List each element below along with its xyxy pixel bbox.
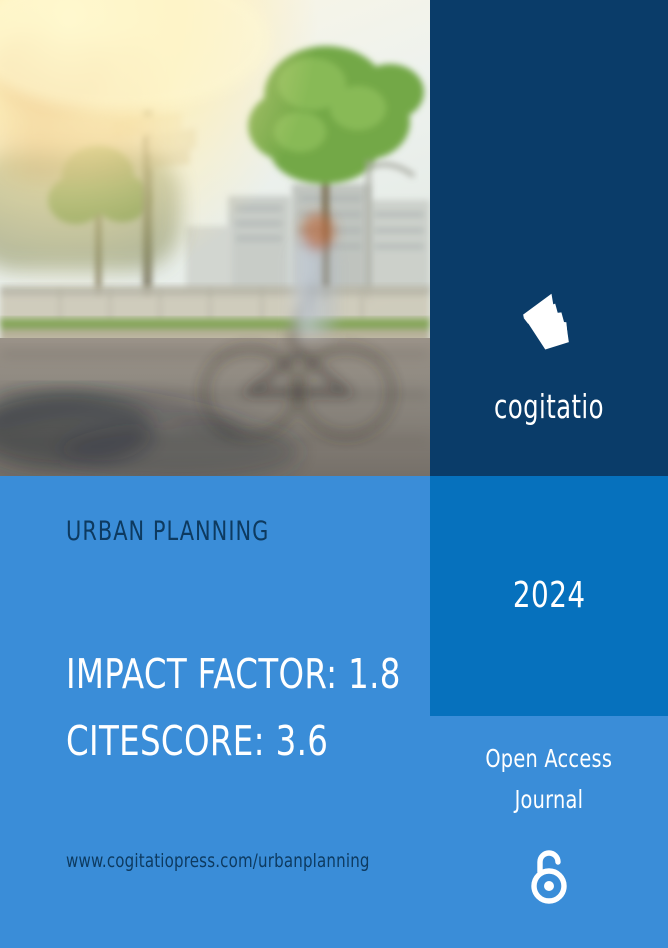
journal-title: URBAN PLANNING [66, 518, 269, 545]
publisher-wordmark: cogitatio [494, 390, 604, 423]
journal-cover: cogitatio URBAN PLANNING IMPACT FACTOR: … [0, 0, 668, 948]
open-access-lock-icon [527, 848, 571, 904]
metrics-group: IMPACT FACTOR: 1.8 CITESCORE: 3.6 [66, 654, 446, 762]
cover-photo [0, 0, 430, 476]
open-access-label-line1: Open Access [486, 746, 613, 771]
open-access-label-line2: Journal [515, 787, 584, 812]
impact-factor-metric: IMPACT FACTOR: 1.8 [66, 654, 401, 695]
brand-panel-top-fill [430, 0, 668, 236]
year-panel: 2024 [430, 476, 668, 716]
journal-url[interactable]: www.cogitatiopress.com/urbanplanning [66, 852, 370, 871]
citescore-metric: CITESCORE: 3.6 [66, 721, 401, 762]
open-access-panel: Open Access Journal [430, 716, 668, 948]
publisher-brand-panel: cogitatio [430, 236, 668, 476]
journal-info-column: URBAN PLANNING IMPACT FACTOR: 1.8 CITESC… [0, 476, 430, 948]
open-book-fan-icon [518, 290, 580, 352]
publication-year: 2024 [513, 578, 586, 614]
